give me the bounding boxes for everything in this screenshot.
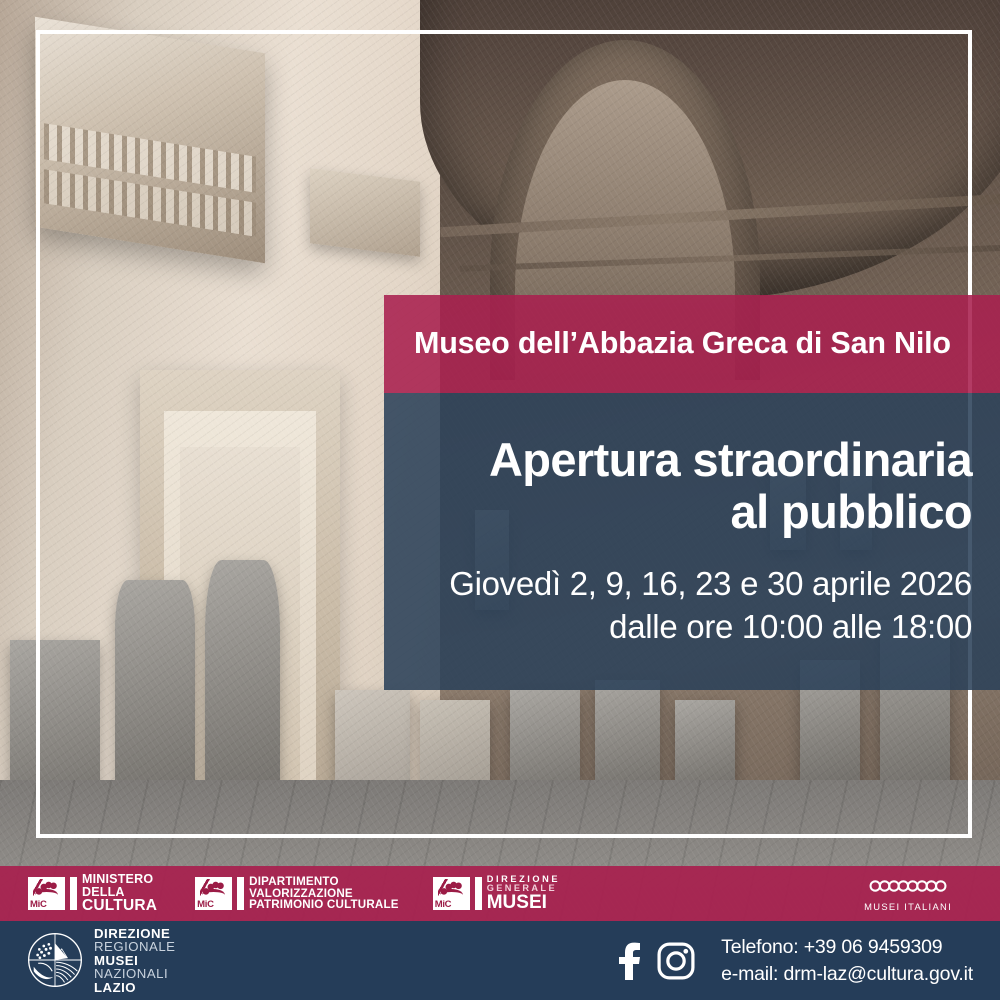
contact-phone[interactable]: Telefono: +39 06 9459309 bbox=[721, 934, 973, 960]
logo-line: PATRIMONIO CULTURALE bbox=[249, 899, 399, 911]
event-hours-line: dalle ore 10:00 alle 18:00 bbox=[449, 605, 972, 649]
wave-pattern-icon bbox=[869, 875, 947, 897]
logo-line: DIPARTIMENTO bbox=[249, 876, 399, 888]
logo-line: DIREZIONE bbox=[94, 927, 175, 940]
logo-line: REGIONALE bbox=[94, 940, 175, 953]
logo-text-direzione-generale: DIREZIONE GENERALE MUSEI bbox=[487, 875, 560, 912]
logo-line: LAZIO bbox=[94, 981, 175, 994]
facebook-icon[interactable] bbox=[614, 942, 644, 980]
event-headline-line1: Apertura straordinaria bbox=[489, 433, 972, 486]
mic-mark-text: MiC bbox=[30, 899, 47, 910]
event-dates: Giovedì 2, 9, 16, 23 e 30 aprile 2026 da… bbox=[449, 562, 972, 649]
mic-logo-mark-icon: MiC bbox=[28, 877, 65, 910]
instagram-icon[interactable] bbox=[657, 942, 695, 980]
event-headline: Apertura straordinaria al pubblico bbox=[489, 434, 972, 537]
page-title: Museo dell’Abbazia Greca di San Nilo bbox=[384, 327, 977, 361]
event-details-band: Apertura straordinaria al pubblico Giove… bbox=[384, 393, 1000, 690]
logo-line: MINISTERO bbox=[82, 873, 157, 886]
mic-hand-icon bbox=[438, 879, 465, 899]
contact-bar: DIREZIONE REGIONALE MUSEI NAZIONALI LAZI… bbox=[0, 921, 1000, 1000]
mic-divider-bar bbox=[475, 877, 482, 910]
logo-drm-lazio: DIREZIONE REGIONALE MUSEI NAZIONALI LAZI… bbox=[27, 927, 175, 994]
event-headline-line2: al pubblico bbox=[731, 485, 972, 538]
drm-lazio-text: DIREZIONE REGIONALE MUSEI NAZIONALI LAZI… bbox=[94, 927, 175, 994]
logo-musei-italiani: MUSEI ITALIANI bbox=[864, 875, 952, 912]
mic-mark-text: MiC bbox=[197, 899, 214, 910]
logo-line: CULTURA bbox=[82, 898, 157, 914]
social-links bbox=[614, 942, 695, 980]
mic-hand-icon bbox=[33, 879, 60, 899]
contact-details: Telefono: +39 06 9459309 e-mail: drm-laz… bbox=[721, 934, 973, 987]
logo-text-dipartimento: DIPARTIMENTO VALORIZZAZIONE PATRIMONIO C… bbox=[249, 876, 399, 911]
mic-mark-text: MiC bbox=[435, 899, 452, 910]
logo-direzione-generale-musei: MiC DIREZIONE GENERALE MUSEI bbox=[433, 875, 560, 912]
mic-hand-icon bbox=[200, 879, 227, 899]
mic-divider-bar bbox=[237, 877, 244, 910]
logo-dipartimento-valorizzazione: MiC DIPARTIMENTO VALORIZZAZIONE PATRIMON… bbox=[195, 876, 399, 911]
drm-lazio-circular-logo-icon bbox=[27, 932, 83, 988]
mic-divider-bar bbox=[70, 877, 77, 910]
event-dates-line1: Giovedì 2, 9, 16, 23 e 30 aprile 2026 bbox=[449, 562, 972, 606]
logo-text-ministero: MINISTERO DELLA CULTURA bbox=[82, 873, 157, 914]
museum-title-band: Museo dell’Abbazia Greca di San Nilo bbox=[384, 295, 1000, 393]
logo-line: NAZIONALI bbox=[94, 967, 175, 980]
logo-ministero-della-cultura: MiC MINISTERO DELLA CULTURA bbox=[28, 873, 157, 914]
ministry-logos-bar: MiC MINISTERO DELLA CULTURA MiC DIPARTIM… bbox=[0, 866, 1000, 921]
musei-italiani-caption: MUSEI ITALIANI bbox=[864, 901, 952, 912]
poster: Museo dell’Abbazia Greca di San Nilo Ape… bbox=[0, 0, 1000, 1000]
logo-line: MUSEI bbox=[487, 893, 560, 912]
logo-line: MUSEI bbox=[94, 954, 175, 967]
contact-email[interactable]: e-mail: drm-laz@cultura.gov.it bbox=[721, 961, 973, 987]
mic-logo-mark-icon: MiC bbox=[433, 877, 470, 910]
mic-logo-mark-icon: MiC bbox=[195, 877, 232, 910]
